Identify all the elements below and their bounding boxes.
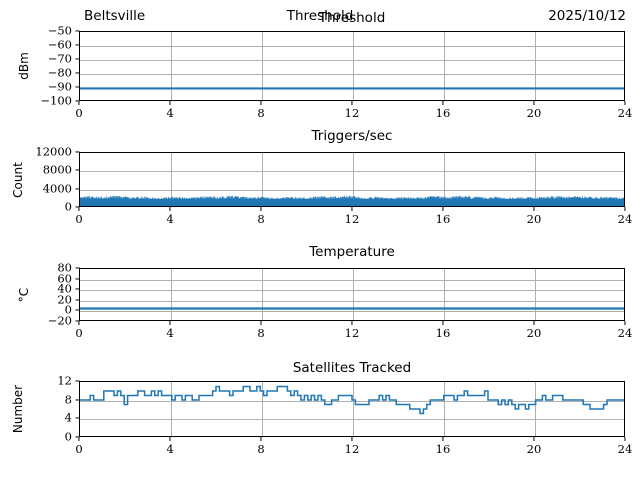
xtick-mark <box>624 321 625 325</box>
xtick-mark <box>351 101 352 105</box>
gridline-horizontal <box>80 401 624 402</box>
gridline-vertical <box>353 153 354 206</box>
ytick-label: 60 <box>0 273 72 285</box>
ytick-label: 12 <box>0 375 72 387</box>
xtick-label: 20 <box>527 212 542 226</box>
ytick-mark <box>76 267 80 268</box>
gridline-vertical <box>444 269 445 320</box>
ytick-mark <box>76 320 80 321</box>
ytick-mark <box>76 206 80 207</box>
ytick-label: 0 <box>0 431 72 443</box>
ytick-label: −60 <box>0 39 72 51</box>
plot-area-temperature <box>79 268 625 321</box>
ytick-label: 20 <box>0 294 72 306</box>
ytick-label: 0 <box>0 305 72 317</box>
panel-title-satellites-tracked: Satellites Tracked <box>79 360 625 376</box>
xtick-mark <box>442 207 443 211</box>
xtick-label: 4 <box>166 212 173 226</box>
xtick-label: 12 <box>345 326 360 340</box>
xtick-mark <box>351 321 352 325</box>
xtick-mark <box>624 207 625 211</box>
ylabel-threshold: dBm <box>17 52 31 80</box>
gridline-vertical <box>262 269 263 320</box>
ytick-mark <box>76 151 80 152</box>
ytick-label: −80 <box>0 67 72 79</box>
xtick-mark <box>260 437 261 441</box>
xtick-label: 16 <box>436 326 451 340</box>
trace-triggers-per-sec <box>80 153 624 206</box>
ytick-mark <box>76 170 80 171</box>
xtick-label: 8 <box>257 442 264 456</box>
xtick-mark <box>260 321 261 325</box>
ylabel-wrapper-threshold: dBm <box>14 31 34 101</box>
gridline-horizontal <box>80 171 624 172</box>
xtick-mark <box>169 207 170 211</box>
gridline-vertical <box>353 382 354 436</box>
xtick-mark <box>624 437 625 441</box>
gridline-vertical <box>262 153 263 206</box>
ytick-mark <box>76 380 80 381</box>
ytick-label: 80 <box>0 262 72 274</box>
xtick-mark <box>533 321 534 325</box>
gridline-vertical <box>171 382 172 436</box>
panel-satellites-tracked: Satellites Tracked1284004812162024Number <box>0 0 640 480</box>
gridline-horizontal <box>80 46 624 47</box>
ytick-mark <box>76 299 80 300</box>
trace-satellites-tracked <box>80 382 624 436</box>
ytick-label: 8 <box>0 394 72 406</box>
gridline-vertical <box>444 382 445 436</box>
figure-canvas: Beltsville Threshold 2025/10/12 Threshol… <box>0 0 640 480</box>
xtick-mark <box>351 437 352 441</box>
xtick-label: 8 <box>257 106 264 120</box>
ylabel-wrapper-temperature: °C <box>14 268 34 321</box>
ytick-mark <box>76 100 80 101</box>
ytick-mark <box>76 86 80 87</box>
xtick-mark <box>533 101 534 105</box>
xtick-label: 0 <box>75 326 82 340</box>
ytick-mark <box>76 399 80 400</box>
xtick-label: 4 <box>166 326 173 340</box>
xtick-mark <box>442 101 443 105</box>
xtick-mark <box>533 437 534 441</box>
ytick-mark <box>76 30 80 31</box>
gridline-vertical <box>535 32 536 100</box>
gridline-vertical <box>171 269 172 320</box>
xtick-label: 24 <box>618 106 633 120</box>
gridline-horizontal <box>80 311 624 312</box>
ytick-mark <box>76 310 80 311</box>
xtick-mark <box>442 321 443 325</box>
ytick-label: 8000 <box>0 165 72 177</box>
gridline-horizontal <box>80 60 624 61</box>
gridline-vertical <box>353 269 354 320</box>
xtick-mark <box>351 207 352 211</box>
gridline-vertical <box>535 269 536 320</box>
xtick-label: 16 <box>436 442 451 456</box>
xtick-label: 20 <box>527 106 542 120</box>
xtick-label: 20 <box>527 442 542 456</box>
ytick-mark <box>76 289 80 290</box>
xtick-label: 0 <box>75 442 82 456</box>
xtick-label: 24 <box>618 212 633 226</box>
gridline-vertical <box>171 153 172 206</box>
xtick-mark <box>260 101 261 105</box>
xtick-label: 12 <box>345 212 360 226</box>
ylabel-temperature: °C <box>17 287 31 301</box>
xtick-label: 8 <box>257 326 264 340</box>
ytick-label: 12000 <box>0 146 72 158</box>
panel-temperature: Temperature806040200−2004812162024°C <box>0 0 640 480</box>
xtick-label: 20 <box>527 326 542 340</box>
gridline-horizontal <box>80 280 624 281</box>
xtick-label: 0 <box>75 106 82 120</box>
ylabel-wrapper-triggers-per-sec: Count <box>8 152 28 207</box>
ytick-label: −90 <box>0 81 72 93</box>
xtick-mark <box>442 437 443 441</box>
xtick-label: 12 <box>345 106 360 120</box>
gridline-horizontal <box>80 290 624 291</box>
gridline-horizontal <box>80 190 624 191</box>
xtick-label: 4 <box>166 442 173 456</box>
ytick-label: 0 <box>0 201 72 213</box>
xtick-mark <box>260 207 261 211</box>
xtick-mark <box>533 207 534 211</box>
xtick-mark <box>624 101 625 105</box>
gridline-vertical <box>444 153 445 206</box>
ytick-mark <box>76 72 80 73</box>
xtick-label: 24 <box>618 442 633 456</box>
gridline-horizontal <box>80 301 624 302</box>
xtick-label: 4 <box>166 106 173 120</box>
gridline-horizontal <box>80 88 624 89</box>
xtick-mark <box>78 207 79 211</box>
figure-center-title: Threshold <box>0 8 640 24</box>
panel-triggers-per-sec: Triggers/sec1200080004000004812162024Cou… <box>0 0 640 480</box>
ytick-label: 4000 <box>0 183 72 195</box>
ytick-label: −100 <box>0 95 72 107</box>
ytick-label: 40 <box>0 283 72 295</box>
gridline-horizontal <box>80 74 624 75</box>
xtick-mark <box>169 101 170 105</box>
xtick-mark <box>169 321 170 325</box>
ytick-mark <box>76 418 80 419</box>
xtick-label: 24 <box>618 326 633 340</box>
ylabel-wrapper-satellites-tracked: Number <box>8 381 28 437</box>
gridline-horizontal <box>80 419 624 420</box>
xtick-label: 12 <box>345 442 360 456</box>
plot-area-triggers-per-sec <box>79 152 625 207</box>
date-label: 2025/10/12 <box>548 8 626 24</box>
panel-title-triggers-per-sec: Triggers/sec <box>79 128 625 144</box>
ylabel-triggers-per-sec: Count <box>11 162 25 198</box>
xtick-mark <box>78 101 79 105</box>
xtick-label: 16 <box>436 212 451 226</box>
ytick-mark <box>76 58 80 59</box>
gridline-vertical <box>535 153 536 206</box>
ytick-label: −20 <box>0 315 72 327</box>
xtick-mark <box>78 437 79 441</box>
plot-area-threshold <box>79 31 625 101</box>
figure-header: Beltsville Threshold 2025/10/12 <box>0 8 640 28</box>
trace-temperature <box>80 269 624 320</box>
ytick-label: 4 <box>0 413 72 425</box>
gridline-vertical <box>171 32 172 100</box>
panel-title-temperature: Temperature <box>79 244 625 260</box>
ytick-mark <box>76 436 80 437</box>
ytick-mark <box>76 278 80 279</box>
ytick-mark <box>76 188 80 189</box>
xtick-label: 16 <box>436 106 451 120</box>
xtick-label: 8 <box>257 212 264 226</box>
xtick-label: 0 <box>75 212 82 226</box>
gridline-vertical <box>353 32 354 100</box>
plot-area-satellites-tracked <box>79 381 625 437</box>
gridline-vertical <box>444 32 445 100</box>
panel-threshold: Threshold−50−60−70−80−90−10004812162024d… <box>0 0 640 480</box>
gridline-vertical <box>535 382 536 436</box>
ytick-label: −70 <box>0 53 72 65</box>
gridline-vertical <box>262 32 263 100</box>
ylabel-satellites-tracked: Number <box>11 385 25 433</box>
gridline-vertical <box>262 382 263 436</box>
xtick-mark <box>78 321 79 325</box>
trace-threshold <box>80 32 624 100</box>
xtick-mark <box>169 437 170 441</box>
ytick-mark <box>76 44 80 45</box>
